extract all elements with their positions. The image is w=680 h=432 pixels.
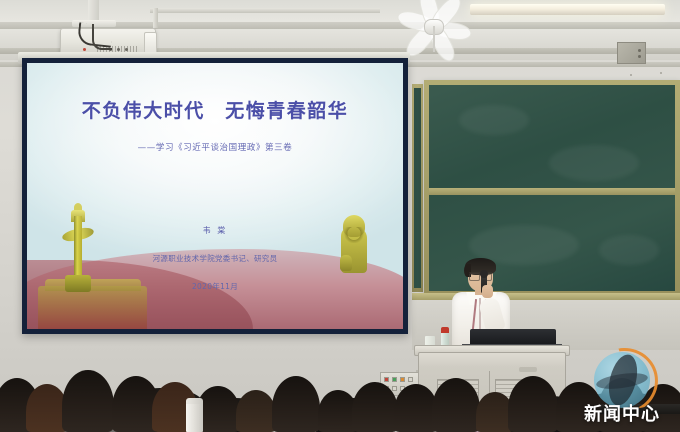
ceiling-pipe [150,8,380,13]
slide-subtitle: ——学习《习近平谈治国理政》第三卷 [27,141,403,153]
audience-head [272,376,320,432]
projector-button [117,48,120,51]
fan-pull-chain [433,26,435,52]
thermos-flask [186,400,203,432]
tiananmen-gate-art [38,286,147,329]
fluorescent-tube-light-icon [470,4,665,15]
blackboard-left-panel [412,84,423,292]
slide-author: 韦 棠 [27,225,403,236]
wall-mark [630,74,632,76]
microphone-head [480,270,488,278]
huabiao-column-art [65,200,91,292]
projector-power-led [83,48,86,51]
watermark-label: 新闻中心 [570,400,674,426]
projector-button [125,48,128,51]
audience-head [352,382,398,432]
bottle-cap [441,327,449,333]
audience-head [508,376,558,432]
chalk-smudge [459,105,529,135]
ceiling-fan-icon [393,0,475,58]
audience-head [62,370,114,432]
wall-electrical-box [617,42,646,64]
chalk-smudge [549,145,639,181]
audience-head [432,378,480,432]
slide-surface: 不负伟大时代 无悔青春韶华 ——学习《习近平谈治国理政》第三卷 韦 棠 河源职业… [27,63,403,329]
blackboard-divider [429,188,675,195]
projector-cable [92,24,112,50]
slide-date: 2020年11月 [27,281,403,292]
speaker-hand [482,285,493,298]
projection-screen: 不负伟大时代 无悔青春韶华 ——学习《习近平谈治国理政》第三卷 韦 棠 河源职业… [22,58,408,334]
lecture-hall-photo: 不负伟大时代 无悔青春韶华 ——学习《习近平谈治国理政》第三卷 韦 棠 河源职业… [0,0,680,432]
ceiling-pipe-drop [153,8,158,28]
audience-head [236,390,276,432]
slide-title: 不负伟大时代 无悔青春韶华 [27,96,403,123]
slide-affiliation: 河源职业技术学院党委书记、研究员 [27,253,403,264]
chalk-smudge [599,235,659,265]
thermos-flask-cap [186,398,203,404]
wall-mark [660,72,662,74]
news-center-watermark: 新闻中心 [570,352,674,428]
